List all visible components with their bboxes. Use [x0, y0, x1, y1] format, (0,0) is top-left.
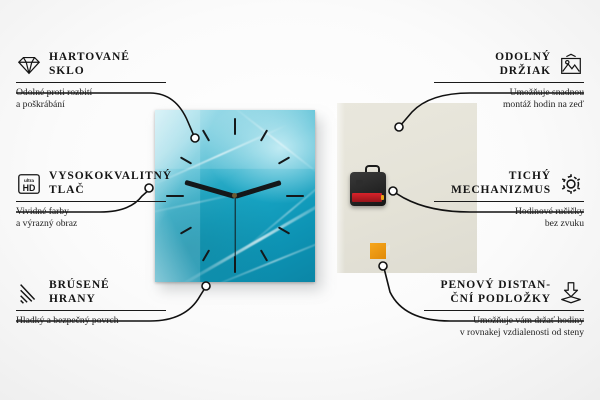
feature-title: HARTOVANÉ SKLO — [49, 51, 130, 78]
clock-second-hand — [234, 196, 235, 259]
feature-foam-spacers: PENOVÝ DISTAN- ČNÍ PODLOŽKY Umožňuje vám… — [424, 279, 584, 339]
ground-edges-icon — [16, 281, 42, 305]
feature-high-quality-print: ultra HD VYSOKOKVALITNÝ TLAČ Vividné far… — [16, 170, 166, 230]
battery — [352, 193, 382, 202]
diamond-icon — [16, 53, 42, 77]
feature-tempered-glass: HARTOVANÉ SKLO Odolné proti rozbití a po… — [16, 51, 166, 111]
feature-title: ODOLNÝ DRŽIAK — [495, 51, 551, 78]
feature-description: Hodinové ručičky bez zvuku — [434, 206, 584, 230]
divider — [424, 310, 584, 311]
feature-title: TICHÝ MECHANIZMUS — [451, 170, 551, 197]
picture-hanger-icon — [558, 53, 584, 77]
svg-text:HD: HD — [23, 182, 36, 192]
mechanism-knob — [356, 180, 363, 186]
feature-header: PENOVÝ DISTAN- ČNÍ PODLOŽKY — [424, 279, 584, 306]
infographic-stage: HARTOVANÉ SKLO Odolné proti rozbití a po… — [0, 0, 600, 400]
feature-title: PENOVÝ DISTAN- ČNÍ PODLOŽKY — [441, 279, 551, 306]
foam-pad-arrow-icon — [558, 281, 584, 305]
divider — [16, 82, 166, 83]
divider — [434, 82, 584, 83]
ultra-hd-badge-icon: ultra HD — [16, 172, 42, 196]
divider — [16, 310, 166, 311]
feature-silent-mechanism: TICHÝ MECHANIZMUS Hodinové ručičky bez z… — [434, 170, 584, 230]
feature-header: ultra HD VYSOKOKVALITNÝ TLAČ — [16, 170, 166, 197]
feature-description: Odolné proti rozbití a poškrábání — [16, 87, 166, 111]
feature-header: ODOLNÝ DRŽIAK — [434, 51, 584, 78]
feature-description: Umožňuje vám držať hodiny v rovnakej vzd… — [424, 315, 584, 339]
feature-title: VYSOKOKVALITNÝ TLAČ — [49, 170, 172, 197]
feature-description: Vividné farby a výrazný obraz — [16, 206, 166, 230]
clock-tick-12 — [234, 118, 236, 135]
feature-polished-edges: BRÚSENÉ HRANY Hladký a bezpečný povrch — [16, 279, 166, 327]
feature-description: Hladký a bezpečný povrch — [16, 315, 166, 327]
divider — [434, 201, 584, 202]
gear-icon — [558, 172, 584, 196]
clock-tick-3 — [286, 195, 304, 197]
feature-title: BRÚSENÉ HRANY — [49, 279, 110, 306]
feature-header: HARTOVANÉ SKLO — [16, 51, 166, 78]
feature-header: BRÚSENÉ HRANY — [16, 279, 166, 306]
divider — [16, 201, 166, 202]
feature-header: TICHÝ MECHANIZMUS — [434, 170, 584, 197]
foam-spacer-pad — [370, 243, 386, 259]
feature-durable-hanger: ODOLNÝ DRŽIAK Umožňuje snadnou montáž ho… — [434, 51, 584, 111]
clock-center-hub — [232, 193, 237, 198]
feature-description: Umožňuje snadnou montáž hodin na zeď — [434, 87, 584, 111]
